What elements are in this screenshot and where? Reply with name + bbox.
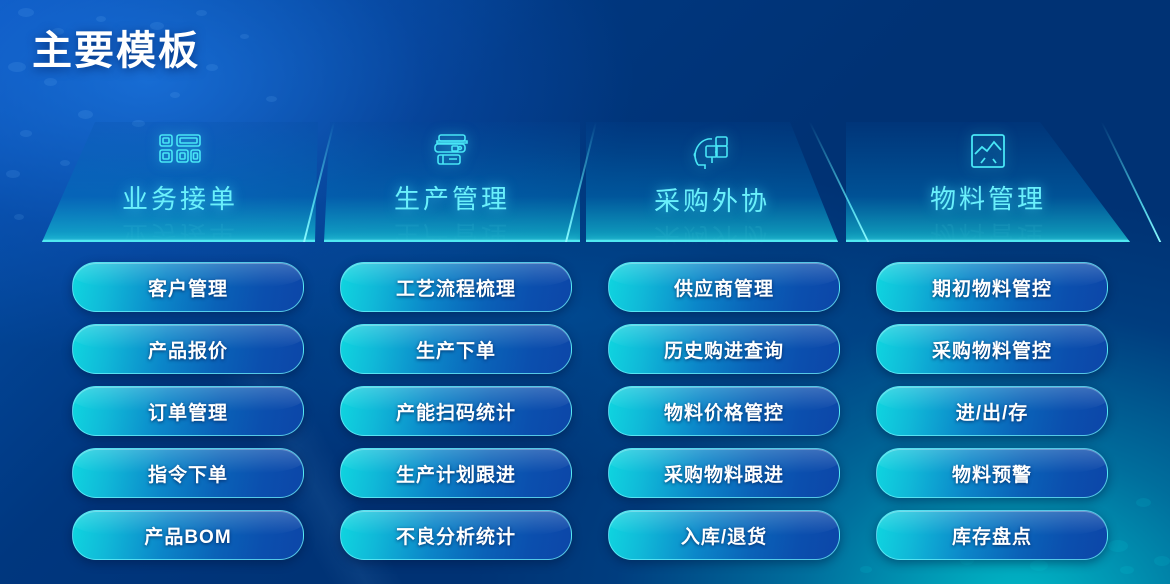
template-pill-label: 不良分析统计 [396, 522, 516, 549]
template-pill-button[interactable]: 物料预警 [876, 448, 1108, 498]
template-pill-button[interactable]: 产品BOM [72, 510, 304, 560]
head-puzzle-icon [690, 132, 734, 177]
template-pill-label: 进/出/存 [956, 398, 1029, 425]
dashboard-grid-icon [158, 132, 202, 175]
category-header-3[interactable]: 采购外协采购外协 [586, 122, 838, 242]
template-pill-button[interactable]: 产品报价 [72, 324, 304, 374]
template-pill-button[interactable]: 订单管理 [72, 386, 304, 436]
template-pill-label: 期初物料管控 [932, 274, 1052, 301]
template-pill-label: 指令下单 [148, 460, 228, 487]
bokeh-dot [196, 10, 207, 16]
template-pill-label: 生产下单 [416, 336, 496, 363]
template-column-4: 期初物料管控采购物料管控进/出/存物料预警库存盘点 [876, 262, 1108, 572]
template-pill-button[interactable]: 入库/退货 [608, 510, 840, 560]
bokeh-dot [266, 96, 277, 102]
template-pill-label: 客户管理 [148, 274, 228, 301]
template-pill-button[interactable]: 采购物料管控 [876, 324, 1108, 374]
template-pill-button[interactable]: 产能扫码统计 [340, 386, 572, 436]
template-pill-button[interactable]: 指令下单 [72, 448, 304, 498]
template-column-2: 工艺流程梳理生产下单产能扫码统计生产计划跟进不良分析统计 [340, 262, 572, 572]
category-header-label: 物料管理 [930, 179, 1046, 216]
category-header-label-reflection: 生产管理 [394, 218, 510, 255]
template-pill-button[interactable]: 生产下单 [340, 324, 572, 374]
category-header-label-reflection: 业务接单 [122, 218, 238, 255]
template-column-1: 客户管理产品报价订单管理指令下单产品BOM [72, 262, 304, 572]
template-pill-button[interactable]: 不良分析统计 [340, 510, 572, 560]
template-pill-button[interactable]: 生产计划跟进 [340, 448, 572, 498]
bokeh-dot [44, 78, 57, 86]
template-pill-button[interactable]: 进/出/存 [876, 386, 1108, 436]
slide-canvas: 主要模板 业务接单业务接单生产管理生产管理采购外协采购外协物料管理物料管理 客户… [0, 0, 1170, 584]
template-pill-label: 供应商管理 [674, 274, 774, 301]
bokeh-dot [170, 92, 180, 98]
template-column-3: 供应商管理历史购进查询物料价格管控采购物料跟进入库/退货 [608, 262, 840, 572]
picture-chart-icon [967, 132, 1009, 175]
category-header-4[interactable]: 物料管理物料管理 [846, 122, 1130, 242]
template-pill-label: 入库/退货 [681, 522, 767, 549]
template-pill-label: 产品报价 [148, 336, 228, 363]
template-pill-label: 物料预警 [952, 460, 1032, 487]
template-pill-label: 工艺流程梳理 [396, 274, 516, 301]
bokeh-dot [240, 34, 249, 39]
category-header-row: 业务接单业务接单生产管理生产管理采购外协采购外协物料管理物料管理 [0, 122, 1170, 242]
template-pill-button[interactable]: 采购物料跟进 [608, 448, 840, 498]
template-pill-button[interactable]: 物料价格管控 [608, 386, 840, 436]
template-pill-button[interactable]: 历史购进查询 [608, 324, 840, 374]
template-pill-label: 历史购进查询 [664, 336, 784, 363]
bokeh-dot [18, 8, 34, 17]
bokeh-dot [206, 64, 218, 71]
template-pill-label: 产能扫码统计 [396, 398, 516, 425]
category-header-1[interactable]: 业务接单业务接单 [42, 122, 318, 242]
category-header-label: 业务接单 [122, 179, 238, 216]
template-pill-label: 采购物料管控 [932, 336, 1052, 363]
bokeh-dot [8, 62, 26, 72]
template-pill-label: 物料价格管控 [664, 398, 784, 425]
template-pill-button[interactable]: 工艺流程梳理 [340, 262, 572, 312]
category-header-2[interactable]: 生产管理生产管理 [324, 122, 580, 242]
template-pill-label: 库存盘点 [952, 522, 1032, 549]
page-title: 主要模板 [32, 18, 200, 76]
category-header-label: 采购外协 [654, 181, 770, 218]
template-pill-label: 采购物料跟进 [664, 460, 784, 487]
template-pill-label: 产品BOM [144, 522, 231, 549]
template-pill-button[interactable]: 客户管理 [72, 262, 304, 312]
template-pill-label: 订单管理 [148, 398, 228, 425]
template-pill-button[interactable]: 供应商管理 [608, 262, 840, 312]
template-columns: 客户管理产品报价订单管理指令下单产品BOM工艺流程梳理生产下单产能扫码统计生产计… [0, 262, 1170, 572]
template-pill-button[interactable]: 库存盘点 [876, 510, 1108, 560]
category-header-label-reflection: 物料管理 [930, 218, 1046, 255]
bokeh-dot [78, 110, 93, 119]
category-header-label: 生产管理 [394, 179, 510, 216]
machine-icon [430, 132, 474, 175]
template-pill-button[interactable]: 期初物料管控 [876, 262, 1108, 312]
template-pill-label: 生产计划跟进 [396, 460, 516, 487]
category-header-label-reflection: 采购外协 [654, 220, 770, 257]
